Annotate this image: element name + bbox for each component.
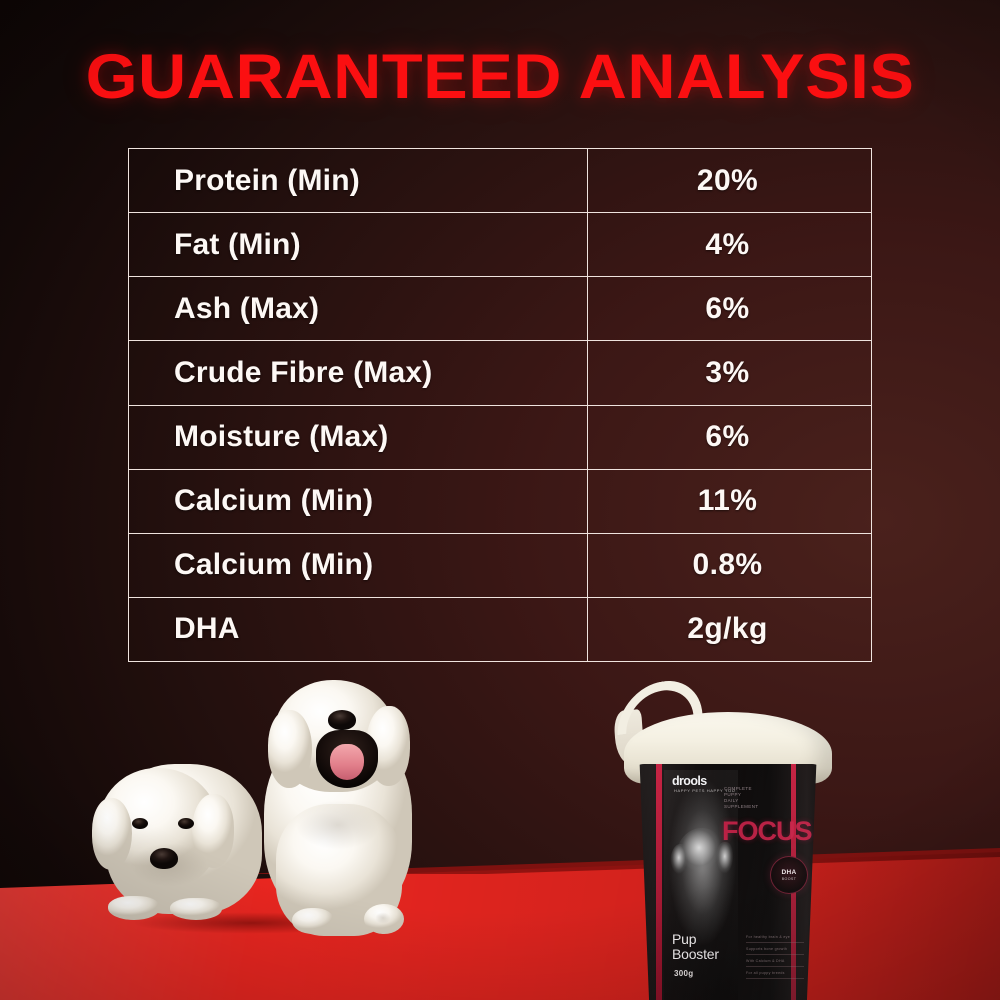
nutrient-value: 4%: [588, 213, 871, 276]
table-row: Calcium (Min) 11%: [129, 470, 871, 534]
nutrient-label: DHA: [129, 598, 588, 661]
nutrient-label: Ash (Max): [129, 277, 588, 340]
nutrient-value: 6%: [588, 277, 871, 340]
guaranteed-analysis-table: Protein (Min) 20% Fat (Min) 4% Ash (Max)…: [128, 148, 872, 662]
table-row: Fat (Min) 4%: [129, 213, 871, 277]
poster-canvas: GUARANTEED ANALYSIS Protein (Min) 20% Fa…: [0, 0, 1000, 1000]
back-copy-line: With Calcium & DHA: [746, 958, 804, 967]
puppies-photo: [78, 672, 428, 934]
back-copy-line: Supports bone growth: [746, 946, 804, 955]
nutrient-label: Fat (Min): [129, 213, 588, 276]
net-weight: 300g: [674, 969, 693, 978]
nutrient-value: 6%: [588, 406, 871, 469]
nutrient-value: 20%: [588, 149, 871, 212]
nutrient-label: Calcium (Min): [129, 470, 588, 533]
nutrient-label: Crude Fibre (Max): [129, 341, 588, 404]
table-row: DHA 2g/kg: [129, 598, 871, 661]
nutrient-label: Calcium (Min): [129, 534, 588, 597]
nutrient-value: 3%: [588, 341, 871, 404]
table-row: Crude Fibre (Max) 3%: [129, 341, 871, 405]
label-back-microcopy: For healthy brain & eye Supports bone gr…: [746, 934, 804, 982]
product-range-name: FOCUS: [722, 816, 812, 847]
back-copy-line: For all puppy breeds: [746, 970, 804, 979]
nutrient-value: 0.8%: [588, 534, 871, 597]
product-variant-name: Pup Booster: [672, 932, 719, 962]
table-row: Ash (Max) 6%: [129, 277, 871, 341]
dha-badge: DHA BOOST: [770, 856, 808, 894]
brand-logo: drools: [672, 774, 707, 788]
dha-badge-title: DHA: [782, 869, 797, 876]
nutrient-label: Moisture (Max): [129, 406, 588, 469]
label-front-microcopy: COMPLETE PUPPY DAILY SUPPLEMENT: [724, 786, 759, 810]
back-copy-line: For healthy brain & eye: [746, 934, 804, 943]
nutrient-value: 11%: [588, 470, 871, 533]
page-title: GUARANTEED ANALYSIS: [0, 44, 1000, 110]
nutrient-value: 2g/kg: [588, 598, 871, 661]
dha-badge-subtitle: BOOST: [782, 877, 797, 881]
table-row: Calcium (Min) 0.8%: [129, 534, 871, 598]
product-bucket: drools HAPPY PETS HAPPY YOU COMPLETE PUP…: [612, 682, 834, 1000]
label-stripe-left: [656, 764, 662, 1000]
table-row: Protein (Min) 20%: [129, 149, 871, 213]
nutrient-label: Protein (Min): [129, 149, 588, 212]
table-row: Moisture (Max) 6%: [129, 406, 871, 470]
bucket-body: drools HAPPY PETS HAPPY YOU COMPLETE PUP…: [634, 764, 822, 1000]
